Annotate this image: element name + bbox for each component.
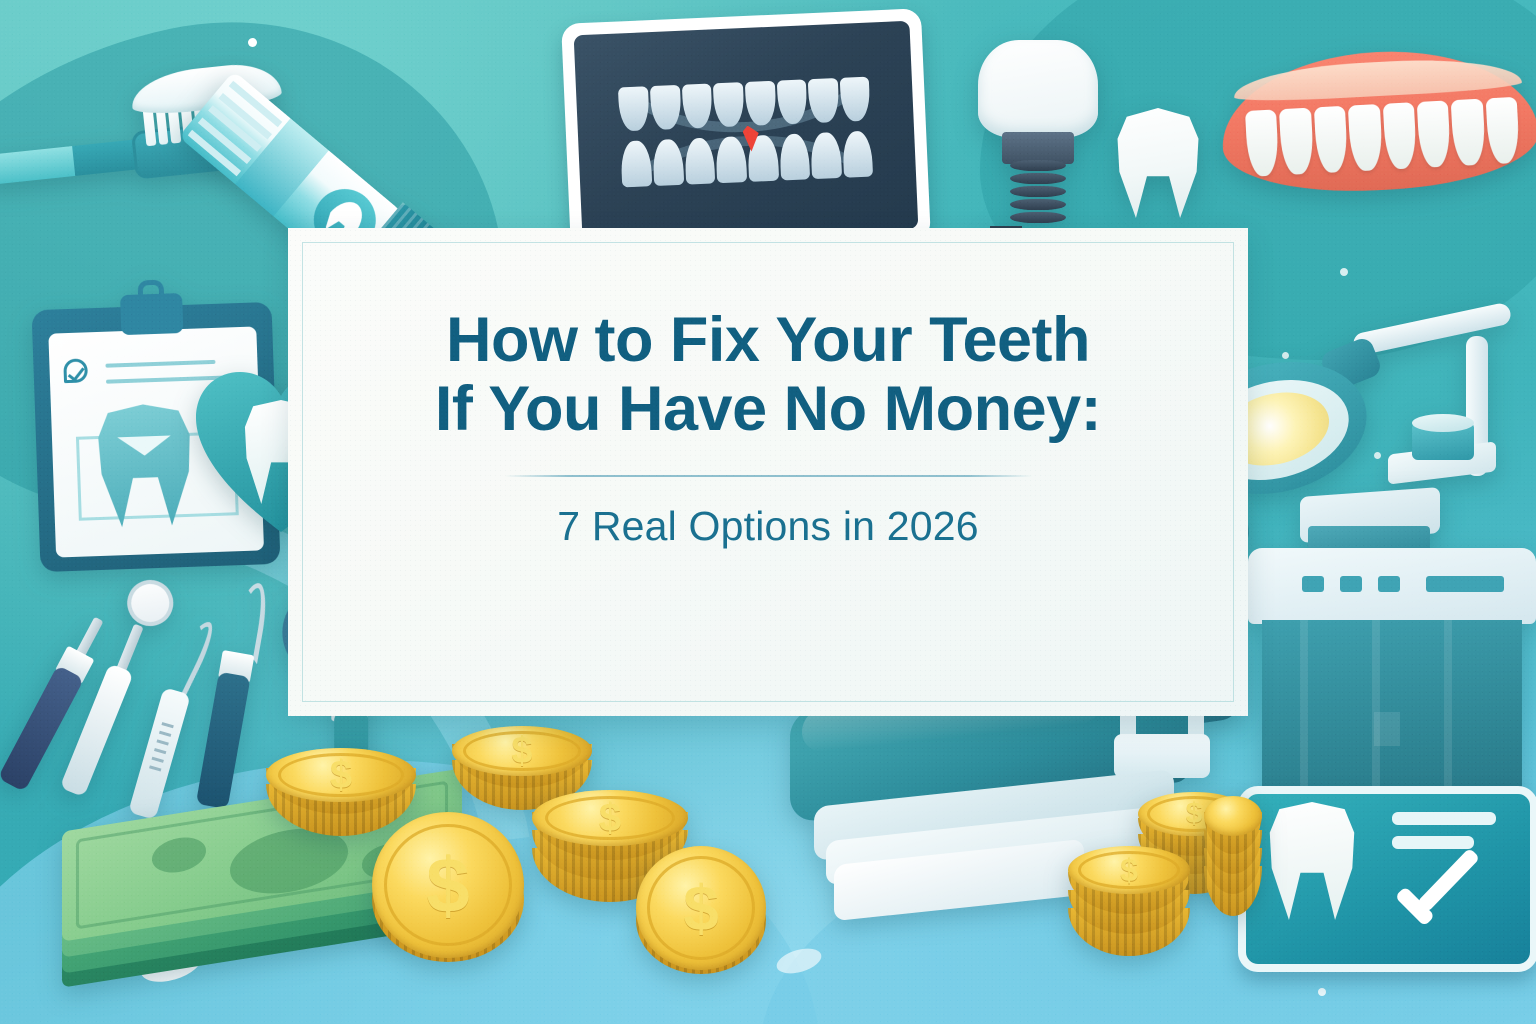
illustration-canvas: $ $ $ $ $ $ bbox=[0, 0, 1536, 1024]
global-texture-overlay bbox=[0, 0, 1536, 1024]
